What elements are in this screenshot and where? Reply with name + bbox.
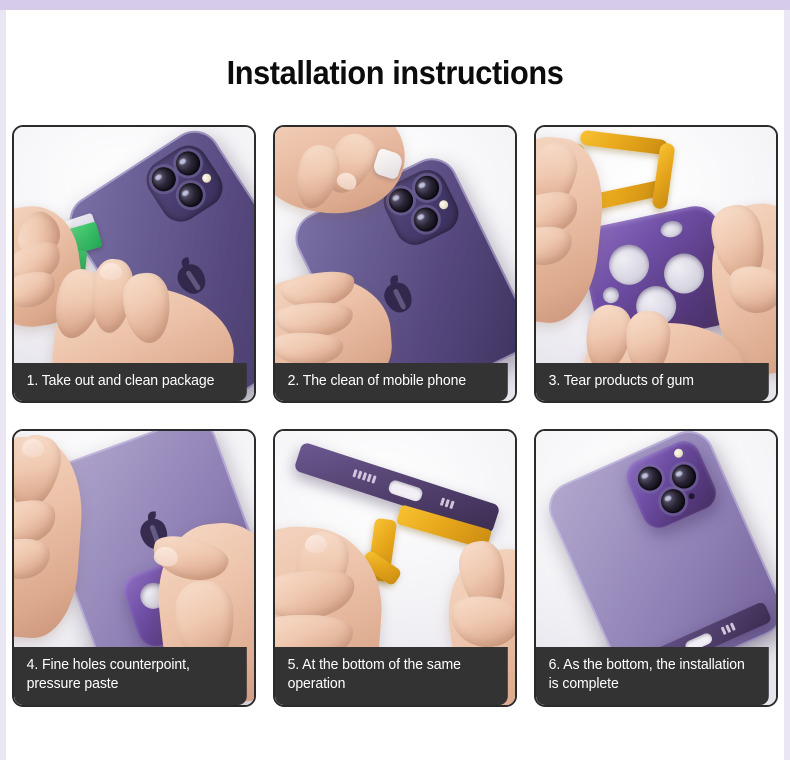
step-caption-4-line-2: pressure paste bbox=[27, 676, 119, 692]
step-card-1[interactable]: 1. Take out and clean package bbox=[12, 125, 256, 403]
top-accent-band bbox=[0, 0, 790, 10]
step-caption-3: 3. Tear products of gum bbox=[536, 363, 769, 401]
step-card-2[interactable]: 2. The clean of mobile phone bbox=[273, 125, 517, 403]
instructions-page: Installation instructions bbox=[6, 10, 784, 760]
step-caption-5-line-2: operation bbox=[288, 676, 346, 692]
step-caption-1: 1. Take out and clean package bbox=[14, 363, 247, 401]
page-title: Installation instructions bbox=[33, 10, 757, 91]
step-caption-6-line-1: 6. As the bottom, the installation bbox=[549, 657, 745, 673]
step-caption-6: 6. As the bottom, the installation is co… bbox=[536, 647, 769, 705]
step-card-6[interactable]: 6. As the bottom, the installation is co… bbox=[534, 429, 778, 707]
step-caption-2: 2. The clean of mobile phone bbox=[275, 363, 508, 401]
step-caption-5-line-1: 5. At the bottom of the same bbox=[288, 657, 461, 673]
step-caption-5: 5. At the bottom of the same operation bbox=[275, 647, 508, 705]
step-caption-4: 4. Fine holes counterpoint, pressure pas… bbox=[14, 647, 247, 705]
step-card-5[interactable]: 5. At the bottom of the same operation bbox=[273, 429, 517, 707]
step-card-3[interactable]: 3. Tear products of gum bbox=[534, 125, 778, 403]
step-card-4[interactable]: 4. Fine holes counterpoint, pressure pas… bbox=[12, 429, 256, 707]
step-photo-3 bbox=[536, 127, 776, 401]
step-photo-1 bbox=[14, 127, 254, 401]
step-photo-2 bbox=[275, 127, 515, 401]
right-edge-band bbox=[784, 10, 790, 760]
step-caption-6-line-2: is complete bbox=[549, 676, 619, 692]
steps-grid: 1. Take out and clean package bbox=[12, 125, 778, 707]
step-caption-4-line-1: 4. Fine holes counterpoint, bbox=[27, 657, 190, 673]
